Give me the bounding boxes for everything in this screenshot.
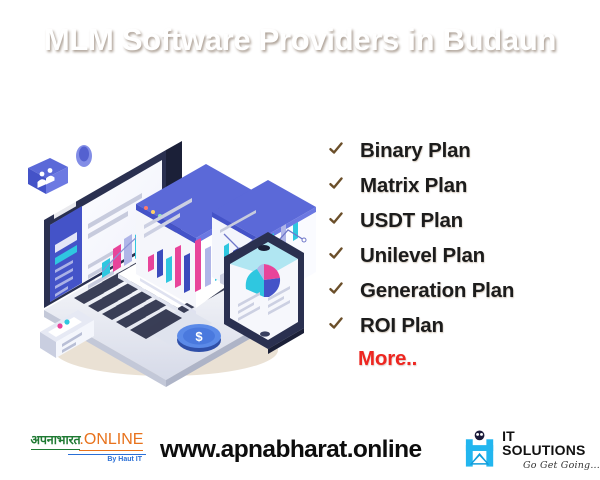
check-icon bbox=[326, 314, 349, 337]
list-item-label: ROI Plan bbox=[360, 314, 444, 338]
check-icon bbox=[326, 244, 349, 267]
check-icon bbox=[326, 279, 349, 302]
dollar-coin-icon: $ bbox=[177, 324, 221, 352]
footer-bar: अपनाभारत.ONLINE By Haut IT www.apnabhara… bbox=[0, 420, 600, 480]
isometric-analytics-illustration: $ bbox=[16, 112, 326, 392]
svg-text:$: $ bbox=[195, 329, 203, 344]
it-solutions-logo[interactable]: IT SOLUTIONS Go Get Going... bbox=[462, 429, 600, 471]
it-solutions-name: IT SOLUTIONS bbox=[502, 429, 600, 457]
more-item: More.. bbox=[326, 343, 576, 375]
list-item: Unilevel Plan bbox=[326, 238, 576, 273]
check-icon bbox=[326, 139, 349, 162]
list-item-label: Binary Plan bbox=[360, 139, 471, 163]
check-icon bbox=[326, 174, 349, 197]
apnabharat-devanagari: अपनाभारत bbox=[31, 431, 81, 450]
more-label: More.. bbox=[358, 347, 417, 371]
poster-canvas: MLM Software Providers in Budaun bbox=[0, 0, 600, 480]
list-item-label: Unilevel Plan bbox=[360, 244, 485, 268]
list-item: Generation Plan bbox=[326, 273, 576, 308]
contacts-card-icon bbox=[28, 158, 68, 194]
page-title: MLM Software Providers in Budaun bbox=[40, 20, 560, 60]
list-item-label: Matrix Plan bbox=[360, 174, 467, 198]
list-item-label: USDT Plan bbox=[360, 209, 463, 233]
list-item: ROI Plan bbox=[326, 308, 576, 343]
list-item: Matrix Plan bbox=[326, 168, 576, 203]
list-item-label: Generation Plan bbox=[360, 279, 514, 303]
website-url[interactable]: www.apnabharat.online bbox=[160, 420, 421, 480]
apnabharat-online-text: ONLINE bbox=[84, 431, 144, 448]
list-item: USDT Plan bbox=[326, 203, 576, 238]
apnabharat-online-word: .ONLINE bbox=[79, 431, 143, 451]
it-solutions-tagline: Go Get Going... bbox=[502, 460, 600, 471]
h-monogram-icon bbox=[462, 429, 497, 471]
plans-list: Binary Plan Matrix Plan USDT Plan Unilev… bbox=[326, 133, 576, 375]
list-item: Binary Plan bbox=[326, 133, 576, 168]
check-icon bbox=[326, 209, 349, 232]
small-coin-icon bbox=[76, 145, 92, 167]
apnabharat-logo[interactable]: अपनाभारत.ONLINE By Haut IT bbox=[28, 431, 146, 463]
apnabharat-byline: By Haut IT bbox=[68, 454, 146, 463]
